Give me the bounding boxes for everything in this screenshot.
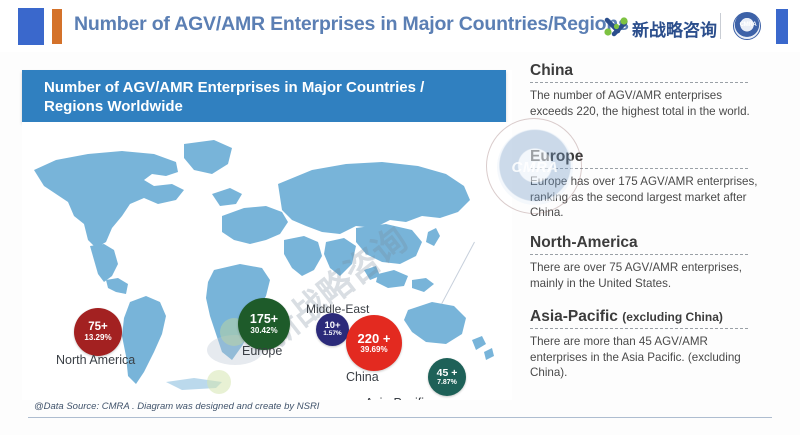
map-bubble-china[interactable]: 220 + 39.69% bbox=[346, 315, 402, 371]
detail-body-asia-pacific: There are more than 45 AGV/AMR enterpris… bbox=[530, 334, 764, 381]
detail-section-europe: Europe Europe has over 175 AGV/AMR enter… bbox=[530, 148, 786, 221]
cmra-seal-label: CMRA bbox=[734, 22, 762, 28]
world-map: 新战略咨询 75+ 13.29% 175+ 30.42% 10+ 1.57% 2… bbox=[22, 122, 512, 400]
bubble-value-asia-pacific: 45 + bbox=[437, 368, 458, 379]
header-orange-bar bbox=[52, 9, 62, 44]
map-banner-title: Number of AGV/AMR Enterprises in Major C… bbox=[44, 78, 474, 116]
bubble-percent-china: 39.69% bbox=[360, 346, 387, 354]
data-source-note: @Data Source: CMRA . Diagram was designe… bbox=[34, 401, 319, 412]
detail-title-asia-pacific: Asia-Pacific (excluding China) bbox=[530, 308, 786, 326]
detail-title-north-america: North-America bbox=[530, 234, 786, 252]
detail-body-europe: Europe has over 175 AGV/AMR enterprises,… bbox=[530, 174, 764, 221]
map-label-middle-east: Middle-East bbox=[306, 302, 369, 316]
detail-divider-asia-pacific bbox=[530, 328, 748, 329]
detail-section-asia-pacific: Asia-Pacific (excluding China) There are… bbox=[530, 308, 786, 381]
detail-title-china: China bbox=[530, 62, 786, 80]
region-details-panel: China The number of AGV/AMR enterprises … bbox=[530, 62, 786, 392]
map-banner: Number of AGV/AMR Enterprises in Major C… bbox=[22, 70, 506, 122]
detail-title-asia-pacific-sub: (excluding China) bbox=[622, 310, 723, 324]
detail-section-china: China The number of AGV/AMR enterprises … bbox=[530, 62, 786, 119]
map-bubble-asia-pacific[interactable]: 45 + 7.87% bbox=[428, 358, 466, 396]
bubble-percent-north-america: 13.29% bbox=[84, 334, 111, 342]
detail-divider-north-america bbox=[530, 254, 748, 255]
map-bubble-middle-east[interactable]: 10+ 1.57% bbox=[316, 313, 349, 346]
map-label-north-america: North America bbox=[56, 353, 135, 367]
header-blue-block bbox=[18, 8, 44, 45]
slide-root: Number of AGV/AMR Enterprises in Major C… bbox=[0, 0, 800, 435]
bubble-percent-middle-east: 1.57% bbox=[323, 331, 341, 338]
map-label-asia-pacific: Asia-Pacific (not including China) bbox=[365, 396, 480, 400]
header-divider bbox=[720, 13, 721, 39]
header-brand-cn: 新战略咨询 bbox=[632, 16, 717, 41]
page-header: Number of AGV/AMR Enterprises in Major C… bbox=[0, 0, 800, 52]
cmra-seal-icon: CMRA bbox=[733, 12, 761, 40]
map-label-china: China bbox=[346, 370, 379, 384]
bubble-percent-europe: 30.42% bbox=[250, 327, 277, 335]
detail-title-asia-pacific-main: Asia-Pacific bbox=[530, 308, 618, 325]
map-blob-green-2 bbox=[207, 370, 231, 394]
bubble-percent-asia-pacific: 7.87% bbox=[437, 379, 457, 386]
header-right-blue-bar bbox=[776, 9, 788, 44]
detail-body-north-america: There are over 75 AGV/AMR enterprises, m… bbox=[530, 260, 764, 291]
bubble-value-china: 220 + bbox=[358, 332, 391, 345]
map-bubble-north-america[interactable]: 75+ 13.29% bbox=[74, 308, 122, 356]
detail-title-europe: Europe bbox=[530, 148, 786, 166]
detail-divider-europe bbox=[530, 168, 748, 169]
footer-divider bbox=[28, 417, 772, 418]
detail-body-china: The number of AGV/AMR enterprises exceed… bbox=[530, 88, 764, 119]
map-bubble-europe[interactable]: 175+ 30.42% bbox=[238, 298, 290, 350]
page-title: Number of AGV/AMR Enterprises in Major C… bbox=[74, 13, 629, 36]
detail-divider-china bbox=[530, 82, 748, 83]
bubble-value-north-america: 75+ bbox=[88, 322, 108, 334]
crosslink-logo-icon bbox=[604, 16, 628, 38]
map-label-europe: Europe bbox=[242, 344, 282, 358]
map-card: Number of AGV/AMR Enterprises in Major C… bbox=[22, 70, 512, 400]
detail-section-north-america: North-America There are over 75 AGV/AMR … bbox=[530, 234, 786, 291]
bubble-value-europe: 175+ bbox=[250, 313, 278, 326]
